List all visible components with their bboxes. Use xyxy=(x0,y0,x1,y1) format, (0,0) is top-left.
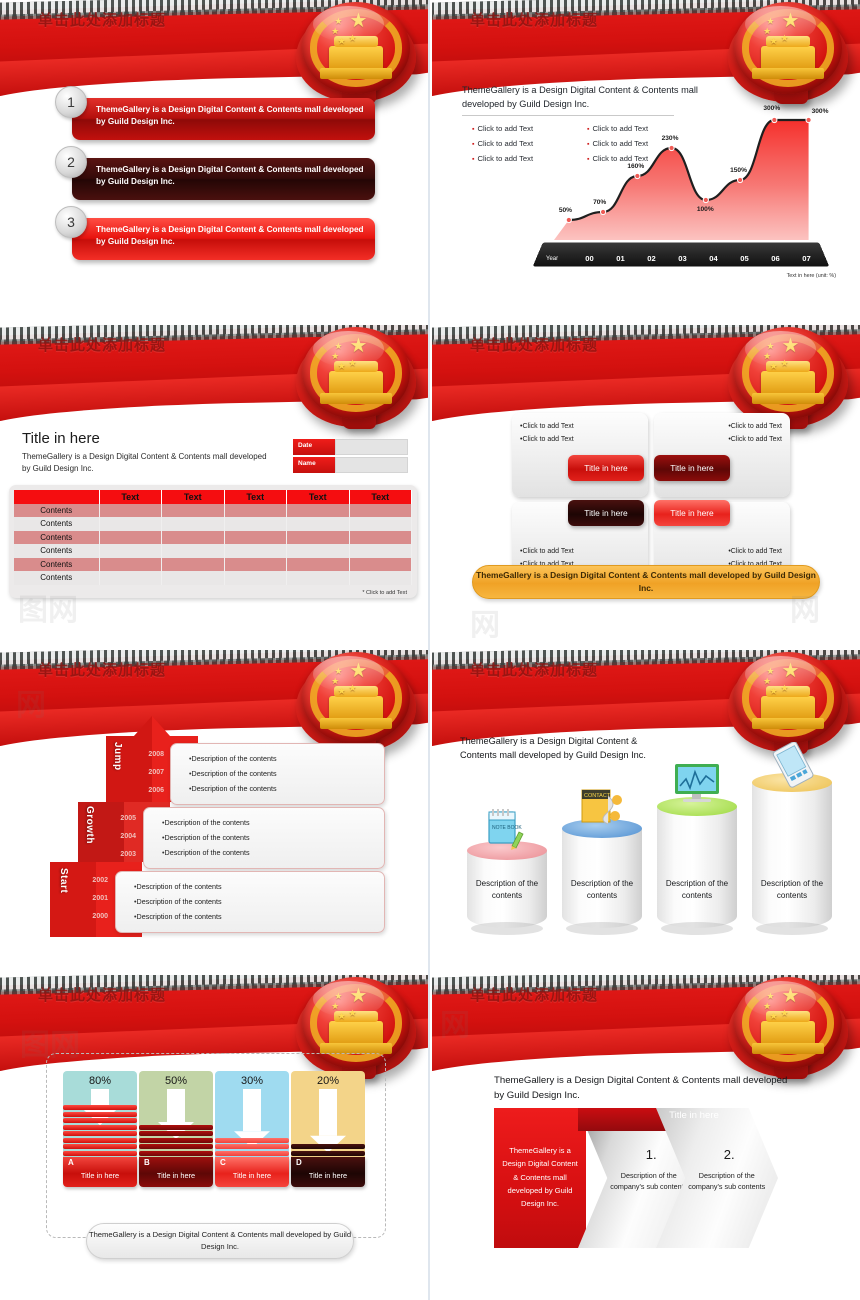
step-panel[interactable]: Description of the contents Description … xyxy=(143,807,385,869)
chart-data-label: 230% xyxy=(662,135,679,142)
pedestal-shadow xyxy=(566,922,638,935)
list-item-text: ThemeGallery is a Design Digital Content… xyxy=(72,158,375,200)
pedestal-caption: Description of the contents xyxy=(467,878,547,901)
panel-item: Description of the contents xyxy=(189,751,384,766)
pedestal-caption: Description of the contents xyxy=(562,878,642,901)
x-tick: 00 xyxy=(574,254,605,263)
stack-bar xyxy=(215,1138,289,1143)
stack-bar xyxy=(139,1125,213,1130)
col-header: Text xyxy=(162,490,225,504)
stack-bar xyxy=(63,1151,137,1156)
x-tick: 01 xyxy=(605,254,636,263)
table-cell xyxy=(224,504,287,518)
table-cell xyxy=(99,571,162,585)
chart-data-point xyxy=(566,217,571,222)
slide-3-table: 单击此处添加标题 ★★★ ★★ Title in here ThemeGalle… xyxy=(0,325,428,616)
x-tick: 07 xyxy=(791,254,822,263)
slide-7-percent-arrows: 单击此处添加标题 ★★★ ★★ 80%ATitle in here50%BTit… xyxy=(0,975,428,1266)
table-cell xyxy=(162,504,225,518)
table-cell xyxy=(99,544,162,558)
year: 2004 xyxy=(100,828,136,846)
column-letter: B xyxy=(144,1158,150,1167)
pedestal-shadow xyxy=(756,922,828,935)
percent-value: 30% xyxy=(215,1075,289,1087)
page-title: 单击此处添加标题 xyxy=(38,334,166,355)
step-number-badge: 1 xyxy=(55,86,87,118)
row-header-cell: Contents xyxy=(14,571,99,585)
x-tick: 03 xyxy=(667,254,698,263)
box-line: Click to add Text xyxy=(654,434,790,447)
year: 2003 xyxy=(100,846,136,864)
pedestal-shadow xyxy=(471,922,543,935)
row-header-cell: Contents xyxy=(14,504,99,518)
table-row[interactable]: Contents xyxy=(14,571,412,585)
chart-data-label: 70% xyxy=(593,199,606,206)
col-header: Text xyxy=(99,490,162,504)
column-body: 50% xyxy=(139,1071,213,1157)
china-national-emblem-icon: ★★ ★★★ xyxy=(290,0,422,106)
china-national-emblem-icon: ★★★ ★★ xyxy=(722,650,854,756)
panel-item: Description of the contents xyxy=(134,909,384,924)
date-input[interactable] xyxy=(335,439,408,455)
cta-banner[interactable]: ThemeGallery is a Design Digital Content… xyxy=(472,565,820,599)
data-table: Text Text Text Text Text ContentsContent… xyxy=(9,485,417,598)
table-cell xyxy=(287,571,350,585)
panel-item: Description of the contents xyxy=(134,879,384,894)
chart-data-point xyxy=(669,145,674,150)
chart-data-label: 150% xyxy=(730,167,747,174)
table-row[interactable]: Contents xyxy=(14,544,412,558)
chart-unit-note: Text in here (unit: %) xyxy=(787,273,836,279)
table-row[interactable]: Contents xyxy=(14,558,412,572)
year: 2006 xyxy=(128,782,164,800)
step-years: 2005 2004 2003 xyxy=(100,810,136,864)
year: 2000 xyxy=(72,908,108,926)
table-cell xyxy=(99,558,162,572)
step-number-badge: 2 xyxy=(55,146,87,178)
table-cell xyxy=(349,571,412,585)
stack-bar xyxy=(63,1112,137,1117)
step-label: Start xyxy=(58,868,69,893)
smartphone-icon xyxy=(766,742,824,788)
table-cell xyxy=(287,517,350,531)
table-cell xyxy=(162,544,225,558)
step-panel[interactable]: Description of the contents Description … xyxy=(115,871,385,933)
stack-bar xyxy=(215,1151,289,1156)
column-title: Title in here xyxy=(139,1171,213,1180)
meta-key: Date xyxy=(293,439,335,455)
year: 2001 xyxy=(72,890,108,908)
pedestal[interactable]: Description of the contents CONTACT xyxy=(562,828,642,928)
stack-bar xyxy=(139,1138,213,1143)
row-header-cell: Contents xyxy=(14,517,99,531)
box-tag[interactable]: Title in here xyxy=(654,455,730,481)
percent-value: 80% xyxy=(63,1075,137,1087)
slide-5-growth-steps: 单击此处添加标题 ★★★ ★★ Jump Growth Start 2008 2… xyxy=(0,650,428,941)
row-header-cell: Contents xyxy=(14,531,99,545)
pedestal-caption: Description of the contents xyxy=(657,878,737,901)
panel-item: Description of the contents xyxy=(162,845,384,860)
column-footer[interactable]: CTitle in here xyxy=(215,1157,289,1187)
table-cell xyxy=(287,544,350,558)
chart-data-point xyxy=(635,173,640,178)
pedestal-caption: Description of the contents xyxy=(752,878,832,901)
column-letter: C xyxy=(220,1158,226,1167)
chart-data-point xyxy=(737,177,742,182)
page-title: 单击此处添加标题 xyxy=(38,9,166,30)
notebook-pencil-icon: NOTE BOOK xyxy=(479,806,537,852)
axis-label: Year xyxy=(540,256,574,262)
pedestal[interactable]: Description of the contents NOTE BOOK xyxy=(467,850,547,928)
headline-text: ThemeGallery is a Design Digital Content… xyxy=(460,734,675,763)
page-title: 单击此处添加标题 xyxy=(470,334,598,355)
step-years: 2008 2007 2006 xyxy=(128,746,164,800)
stack-bar xyxy=(63,1105,137,1110)
table-cell xyxy=(162,517,225,531)
column-title: Title in here xyxy=(291,1171,365,1180)
table-cell xyxy=(287,504,350,518)
column-title: Title in here xyxy=(63,1171,137,1180)
chart-data-label: 300% xyxy=(763,105,780,112)
table-cell xyxy=(287,558,350,572)
chart-data-point xyxy=(806,117,811,122)
pedestal[interactable]: Description of the contents xyxy=(657,806,737,928)
x-tick: 04 xyxy=(698,254,729,263)
panel-item: Description of the contents xyxy=(162,815,384,830)
list-item-text: ThemeGallery is a Design Digital Content… xyxy=(72,98,375,140)
list-item-text: ThemeGallery is a Design Digital Content… xyxy=(72,218,375,260)
slide-4-four-boxes: 单击此处添加标题 ★★★ ★★ Click to add Text Click … xyxy=(432,325,860,616)
stack-bar xyxy=(139,1144,213,1149)
percent-column[interactable]: 80%ATitle in here xyxy=(63,1071,137,1187)
table-cell xyxy=(99,517,162,531)
bar-stack xyxy=(63,1105,137,1157)
china-national-emblem-icon: ★★★ ★★ xyxy=(722,0,854,106)
table-footnote: * Click to add Text xyxy=(362,590,407,596)
x-tick: 02 xyxy=(636,254,667,263)
list-item[interactable]: 1 ThemeGallery is a Design Digital Conte… xyxy=(55,92,375,138)
chevron-step-2[interactable]: 2. Description of the company’s sub cont… xyxy=(656,1108,778,1248)
contact-folder-icon: CONTACT xyxy=(574,782,632,830)
meta-key: Name xyxy=(293,457,335,473)
numbered-bar-list: 1 ThemeGallery is a Design Digital Conte… xyxy=(55,92,375,272)
table-cell xyxy=(99,531,162,545)
bar-stack xyxy=(139,1125,213,1158)
section-title: Title in here xyxy=(22,430,100,447)
year: 2008 xyxy=(128,746,164,764)
box-tag[interactable]: Title in here xyxy=(568,455,644,481)
table-row[interactable]: Contents xyxy=(14,531,412,545)
year: 2002 xyxy=(72,872,108,890)
year: 2005 xyxy=(100,810,136,828)
table-cell xyxy=(162,558,225,572)
step-label: Jump xyxy=(112,742,123,771)
column-letter: D xyxy=(296,1158,302,1167)
pedestal-shadow xyxy=(661,922,733,935)
chart-canvas xyxy=(532,100,842,250)
panel-item: Description of the contents xyxy=(189,781,384,796)
panel-item: Description of the contents xyxy=(134,894,384,909)
section-subtitle: ThemeGallery is a Design Digital Content… xyxy=(22,451,277,475)
table-row[interactable]: Contents xyxy=(14,517,412,531)
column-body: 80% xyxy=(63,1071,137,1157)
step-panel[interactable]: Description of the contents Description … xyxy=(170,743,385,805)
step-years: 2002 2001 2000 xyxy=(72,872,108,926)
chart-data-label: 300% xyxy=(812,108,829,115)
column-divider xyxy=(428,0,430,1300)
stack-bar xyxy=(63,1144,137,1149)
table-cell xyxy=(349,531,412,545)
monitor-chart-icon xyxy=(668,762,728,808)
stack-bar xyxy=(63,1118,137,1123)
headline-text: ThemeGallery is a Design Digital Content… xyxy=(494,1073,794,1104)
slide-2-area-chart: 单击此处添加标题 ★★★ ★★ ThemeGallery is a Design… xyxy=(432,0,860,291)
cta-banner[interactable]: ThemeGallery is a Design Digital Content… xyxy=(86,1223,354,1259)
stack-bar xyxy=(139,1151,213,1156)
column-title: Title in here xyxy=(215,1171,289,1180)
x-tick: 05 xyxy=(729,254,760,263)
chart-data-label: 50% xyxy=(559,207,572,214)
x-axis-labels: Year 00 01 02 03 04 05 06 07 xyxy=(540,254,822,263)
page-title: 单击此处添加标题 xyxy=(470,9,598,30)
table-cell xyxy=(224,544,287,558)
meta-fields: Date Name xyxy=(293,439,408,475)
pedestal[interactable]: Description of the contents xyxy=(752,782,832,928)
table-cell xyxy=(224,531,287,545)
box-line: Click to add Text xyxy=(512,434,648,447)
col-header xyxy=(14,490,99,504)
x-tick: 06 xyxy=(760,254,791,263)
slide-1-numbered-list: 单击此处添加标题 ★★ ★★★ 1 ThemeGallery is a Desi… xyxy=(0,0,428,291)
panel-item: Description of the contents xyxy=(162,830,384,845)
page-title: 单击此处添加标题 xyxy=(470,984,598,1005)
table-header-row: Text Text Text Text Text xyxy=(14,490,412,504)
stack-bar xyxy=(63,1125,137,1130)
panel-item: Description of the contents xyxy=(189,766,384,781)
column-body: 20% xyxy=(291,1071,365,1157)
box-tag[interactable]: Title in here xyxy=(568,500,644,526)
stack-bar xyxy=(215,1144,289,1149)
col-header: Text xyxy=(287,490,350,504)
column-footer[interactable]: ATitle in here xyxy=(63,1157,137,1187)
chevron-intro-block[interactable]: ThemeGallery is a Design Digital Content… xyxy=(494,1108,586,1248)
column-letter: A xyxy=(68,1158,74,1167)
chart-area-fill xyxy=(554,120,809,240)
col-header: Text xyxy=(224,490,287,504)
row-header-cell: Contents xyxy=(14,544,99,558)
list-item[interactable]: 2 ThemeGallery is a Design Digital Conte… xyxy=(55,152,375,198)
column-footer[interactable]: DTitle in here xyxy=(291,1157,365,1187)
step-number-badge: 3 xyxy=(55,206,87,238)
slide-deck: 单击此处添加标题 ★★ ★★★ 1 ThemeGallery is a Desi… xyxy=(0,0,860,1300)
table-row[interactable]: Contents xyxy=(14,504,412,518)
chart-data-point xyxy=(600,209,605,214)
step-label: Growth xyxy=(84,806,95,844)
china-national-emblem-icon: ★★★ ★★ xyxy=(290,325,422,431)
table-cell xyxy=(224,517,287,531)
svg-text:CONTACT: CONTACT xyxy=(584,793,611,799)
step-text: Description of the company’s sub content… xyxy=(683,1170,771,1193)
page-title: 单击此处添加标题 xyxy=(38,984,166,1005)
year: 2007 xyxy=(128,764,164,782)
column-body: 30% xyxy=(215,1071,289,1157)
table-cell xyxy=(349,544,412,558)
col-header: Text xyxy=(349,490,412,504)
table-cell xyxy=(99,504,162,518)
table-cell xyxy=(224,558,287,572)
stack-bar xyxy=(291,1151,365,1156)
stack-bar xyxy=(139,1131,213,1136)
box-line: Click to add Text xyxy=(512,413,648,434)
stack-bar xyxy=(63,1138,137,1143)
svg-text:NOTE BOOK: NOTE BOOK xyxy=(492,825,522,831)
band-title: Title in here xyxy=(614,1110,774,1121)
step-number: 2. xyxy=(690,1147,768,1162)
percent-column[interactable]: 30%CTitle in here xyxy=(215,1071,289,1187)
box-line: Click to add Text xyxy=(654,413,790,434)
meta-row-date[interactable]: Date xyxy=(293,439,408,455)
table-cell xyxy=(349,504,412,518)
bar-stack xyxy=(291,1144,365,1157)
box-tag[interactable]: Title in here xyxy=(654,500,730,526)
page-title: 单击此处添加标题 xyxy=(470,659,598,680)
bar-stack xyxy=(215,1138,289,1158)
meta-row-name[interactable]: Name xyxy=(293,457,408,473)
row-header-cell: Contents xyxy=(14,558,99,572)
percent-value: 50% xyxy=(139,1075,213,1087)
list-item[interactable]: 3 ThemeGallery is a Design Digital Conte… xyxy=(55,212,375,258)
table-cell xyxy=(224,571,287,585)
table-cell xyxy=(162,531,225,545)
percent-column[interactable]: 20%DTitle in here xyxy=(291,1071,365,1187)
table-cell xyxy=(287,531,350,545)
percent-value: 20% xyxy=(291,1075,365,1087)
chart-data-point xyxy=(703,197,708,202)
table-cell xyxy=(349,558,412,572)
area-chart: Year 00 01 02 03 04 05 06 07 Text in her… xyxy=(532,100,842,275)
slide-8-chevrons: 单击此处添加标题 ★★★ ★★ ThemeGallery is a Design… xyxy=(432,975,860,1266)
chart-data-label: 100% xyxy=(697,206,714,213)
name-input[interactable] xyxy=(335,457,408,473)
table-cell xyxy=(162,571,225,585)
stack-bar xyxy=(63,1131,137,1136)
stack-bar xyxy=(291,1144,365,1149)
chart-data-label: 160% xyxy=(627,163,644,170)
column-footer[interactable]: BTitle in here xyxy=(139,1157,213,1187)
table-cell xyxy=(349,517,412,531)
slide-6-pedestals: 单击此处添加标题 ★★★ ★★ ThemeGallery is a Design… xyxy=(432,650,860,941)
percent-column[interactable]: 50%BTitle in here xyxy=(139,1071,213,1187)
chevron-diagram: ThemeGallery is a Design Digital Content… xyxy=(494,1108,794,1248)
chart-data-point xyxy=(772,117,777,122)
china-national-emblem-icon: ★★★ ★★ xyxy=(722,975,854,1081)
